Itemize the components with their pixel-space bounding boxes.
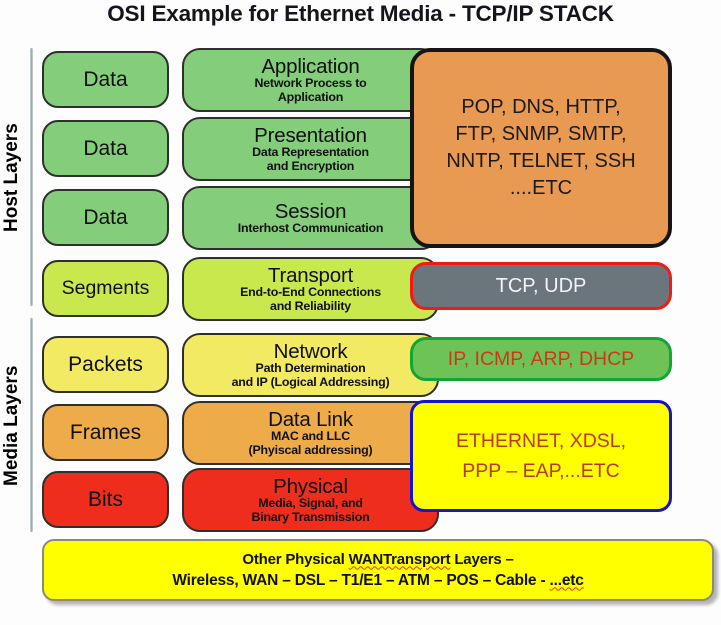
bottom-banner-other-physical-wan: Other Physical WANTransport Layers – Wir… xyxy=(42,539,714,601)
protocol-datalink-line-1: ETHERNET, XDSL, xyxy=(456,426,626,456)
layer-name-presentation: Presentation xyxy=(254,125,367,146)
layer-name-transport: Transport xyxy=(268,265,353,286)
bottom-banner-line-1-suffix: Layers – xyxy=(450,551,513,568)
layer-desc-network-1: Path Determination xyxy=(254,362,368,375)
pdu-box-session: Data xyxy=(42,189,169,246)
layer-desc-network-2: and IP (Logical Addressing) xyxy=(230,376,392,389)
protocol-app-line-1: POP, DNS, HTTP, xyxy=(446,94,635,121)
layer-box-physical: Physical Media, Signal, and Binary Trans… xyxy=(182,468,439,532)
protocol-box-transport: TCP, UDP xyxy=(410,262,672,310)
pdu-box-transport: Segments xyxy=(42,260,169,317)
protocol-datalink-line-2: PPP – EAP,...ETC xyxy=(456,456,626,486)
layer-box-presentation: Presentation Data Representation and Enc… xyxy=(182,117,439,181)
layer-desc-application-1: Network Process to xyxy=(252,77,368,90)
group-bracket-media xyxy=(30,318,33,532)
protocol-app-line-2: FTP, SNMP, SMTP, xyxy=(446,121,635,148)
layer-desc-presentation-1: Data Representation xyxy=(250,146,371,159)
layer-box-transport: Transport End-to-End Connections and Rel… xyxy=(182,257,439,321)
bottom-banner-line-2-misspelled: ...etc xyxy=(550,572,584,589)
layer-name-session: Session xyxy=(275,201,347,222)
layer-desc-physical-2: Binary Transmission xyxy=(249,511,371,524)
layer-name-network: Network xyxy=(274,341,348,362)
layer-desc-transport-2: and Reliability xyxy=(268,300,353,313)
protocol-transport-line-1: TCP, UDP xyxy=(496,275,587,298)
protocol-box-application: POP, DNS, HTTP, FTP, SNMP, SMTP, NNTP, T… xyxy=(410,48,672,248)
osi-diagram: OSI Example for Ethernet Media - TCP/IP … xyxy=(0,0,721,625)
bottom-banner-line-2: Wireless, WAN – DSL – T1/E1 – ATM – POS … xyxy=(172,570,583,591)
layer-desc-physical-1: Media, Signal, and xyxy=(256,497,365,510)
layer-name-datalink: Data Link xyxy=(268,409,353,430)
layer-box-session: Session Interhost Communication xyxy=(182,186,439,250)
layer-box-application: Application Network Process to Applicati… xyxy=(182,48,439,112)
pdu-box-datalink: Frames xyxy=(42,404,169,461)
layer-desc-session-1: Interhost Communication xyxy=(236,222,385,235)
layer-box-network: Network Path Determination and IP (Logic… xyxy=(182,333,439,397)
protocol-network-line-1: IP, ICMP, ARP, DHCP xyxy=(448,348,634,371)
pdu-box-application: Data xyxy=(42,51,169,108)
bottom-banner-line-2-prefix: Wireless, WAN – DSL – T1/E1 – ATM – POS … xyxy=(172,572,549,589)
bottom-banner-line-1: Other Physical WANTransport Layers – xyxy=(242,550,513,570)
layer-box-datalink: Data Link MAC and LLC (Phyiscal addressi… xyxy=(182,401,439,465)
protocol-app-line-4: ....ETC xyxy=(446,175,635,202)
layer-name-application: Application xyxy=(261,56,359,77)
bottom-banner-line-1-misspelled: WANTransport xyxy=(349,551,451,568)
group-label-media-layers: Media Layers xyxy=(1,318,25,533)
layer-desc-datalink-2: (Phyiscal addressing) xyxy=(247,444,375,457)
layer-desc-presentation-2: and Encryption xyxy=(265,160,356,173)
group-bracket-host xyxy=(30,48,33,306)
page-title: OSI Example for Ethernet Media - TCP/IP … xyxy=(0,1,721,27)
pdu-box-network: Packets xyxy=(42,336,169,393)
group-label-host-layers: Host Layers xyxy=(1,47,25,309)
pdu-box-physical: Bits xyxy=(42,471,169,528)
layer-desc-datalink-1: MAC and LLC xyxy=(269,430,352,443)
bottom-banner-line-1-prefix: Other Physical xyxy=(242,551,348,568)
protocol-box-datalink: ETHERNET, XDSL, PPP – EAP,...ETC xyxy=(410,400,672,512)
protocol-app-line-3: NNTP, TELNET, SSH xyxy=(446,148,635,175)
layer-name-physical: Physical xyxy=(273,476,348,497)
pdu-box-presentation: Data xyxy=(42,120,169,177)
layer-desc-application-2: Application xyxy=(276,91,345,104)
layer-desc-transport-1: End-to-End Connections xyxy=(238,286,383,299)
protocol-box-network: IP, ICMP, ARP, DHCP xyxy=(410,337,672,381)
